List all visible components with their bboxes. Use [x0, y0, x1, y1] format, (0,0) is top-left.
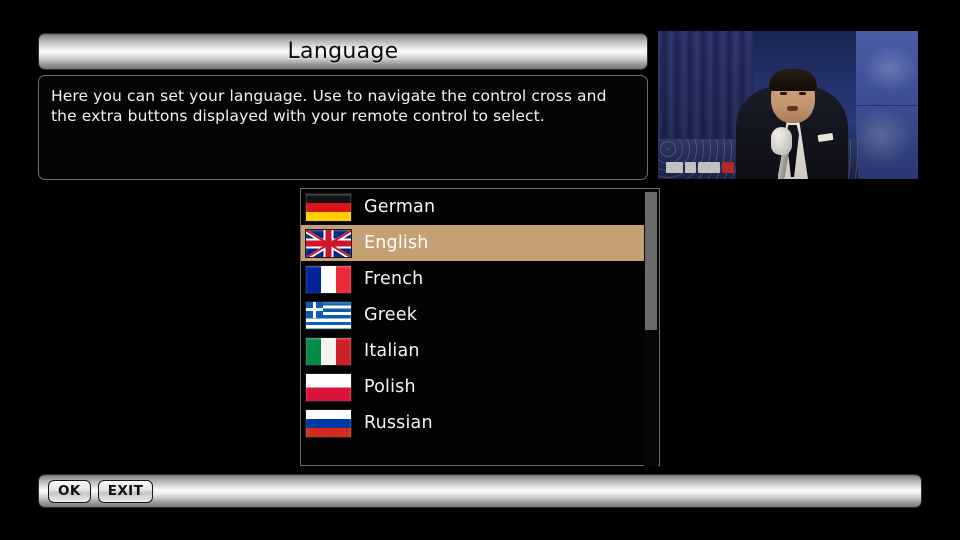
- exit-button[interactable]: EXIT: [98, 480, 153, 503]
- language-label: French: [364, 269, 423, 289]
- language-row[interactable]: Russian: [301, 405, 645, 441]
- language-row[interactable]: Greek: [301, 297, 645, 333]
- language-list[interactable]: GermanEnglishFrenchGreekItalianPolishRus…: [301, 189, 645, 441]
- reporter-hair: [769, 69, 817, 91]
- flag-greece-icon: [305, 301, 352, 330]
- flag-france-icon: [305, 265, 352, 294]
- page-title: Language: [288, 39, 399, 64]
- description-text: Here you can set your language. Use to n…: [51, 87, 635, 126]
- flag-italy-icon: [305, 337, 352, 366]
- bottom-button-bar: OKEXIT: [38, 474, 922, 508]
- language-row[interactable]: French: [301, 261, 645, 297]
- language-label: Greek: [364, 305, 417, 325]
- reporter-eye-left: [780, 92, 787, 95]
- language-row[interactable]: English: [301, 225, 645, 261]
- video-decorative-panel: [856, 31, 918, 179]
- flag-russia-icon: [305, 409, 352, 438]
- scrollbar-thumb[interactable]: [645, 192, 657, 330]
- language-row[interactable]: Polish: [301, 369, 645, 405]
- video-preview[interactable]: [658, 31, 918, 179]
- channel-logo-watermark: [666, 161, 738, 174]
- language-row[interactable]: Italian: [301, 333, 645, 369]
- ok-button[interactable]: OK: [48, 480, 91, 503]
- title-bar: Language: [38, 33, 648, 70]
- language-label: Russian: [364, 413, 433, 433]
- language-row[interactable]: German: [301, 189, 645, 225]
- language-list-panel: GermanEnglishFrenchGreekItalianPolishRus…: [300, 188, 660, 466]
- reporter-eye-right: [799, 92, 806, 95]
- language-label: German: [364, 197, 435, 217]
- flag-poland-icon: [305, 373, 352, 402]
- reporter-mouth: [787, 106, 798, 111]
- flag-united-kingdom-icon: [305, 229, 352, 258]
- description-panel: Here you can set your language. Use to n…: [38, 75, 648, 180]
- scrollbar-track[interactable]: [644, 190, 658, 466]
- language-label: Italian: [364, 341, 420, 361]
- microphone-icon: [771, 127, 792, 155]
- flag-germany-icon: [305, 193, 352, 222]
- language-label: English: [364, 233, 429, 253]
- tv-settings-screen: Language Here you can set your language.…: [0, 0, 960, 540]
- language-label: Polish: [364, 377, 416, 397]
